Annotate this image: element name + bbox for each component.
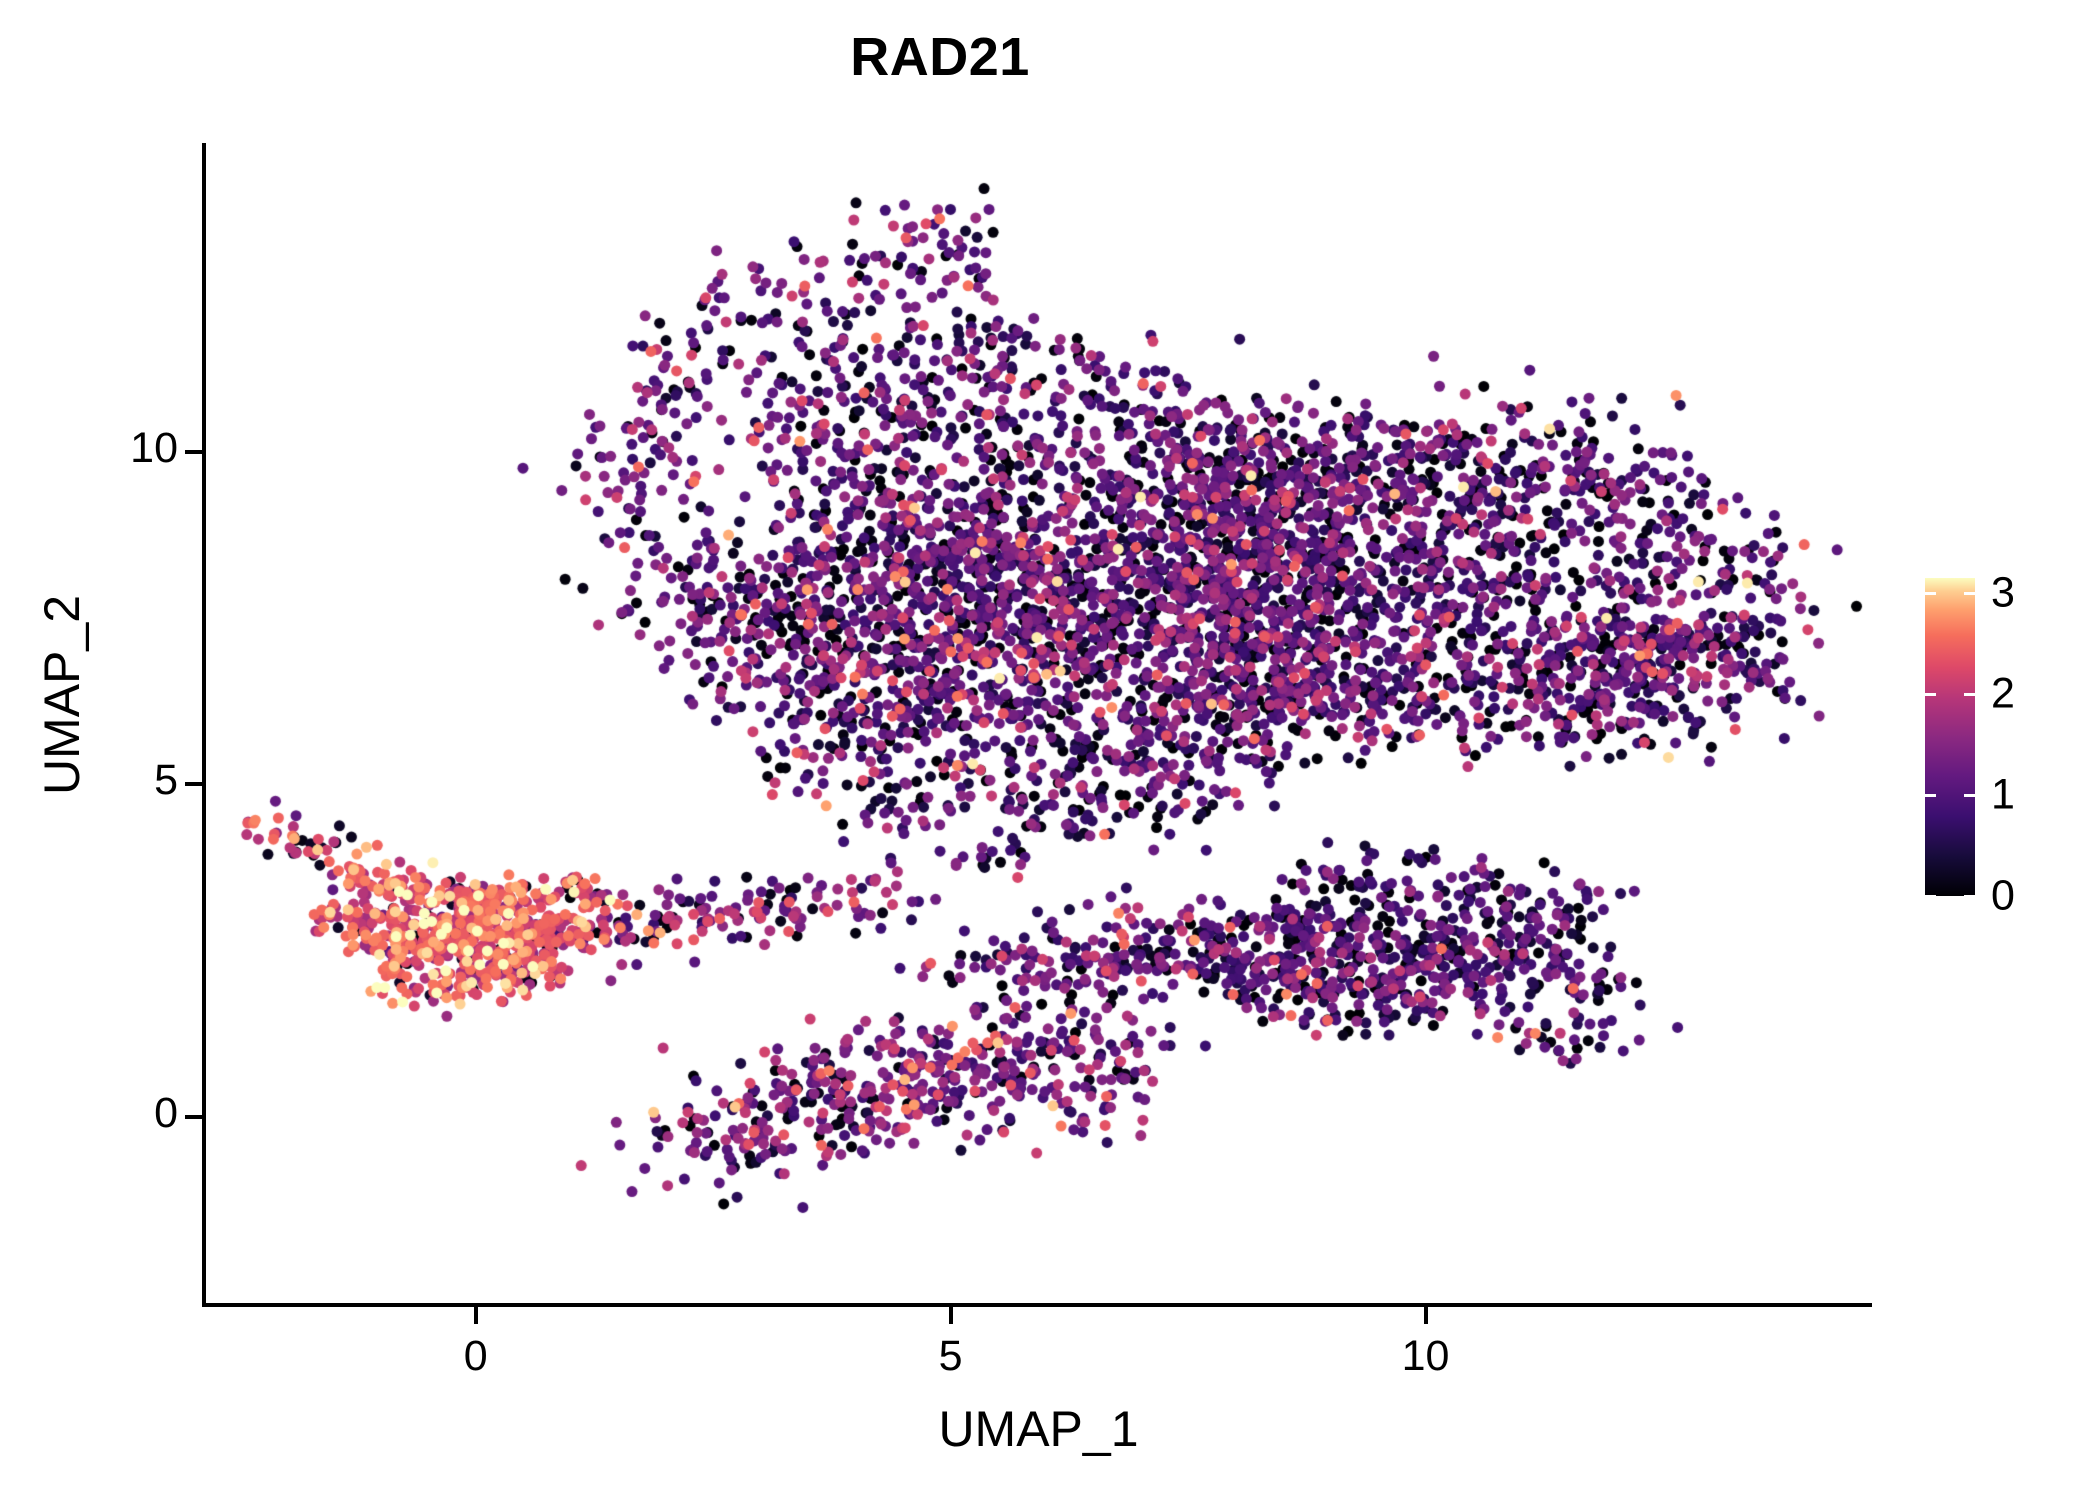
colorbar-tick-mark	[1925, 592, 1936, 595]
x-tick-label: 0	[376, 1332, 576, 1381]
y-tick-mark	[185, 1115, 202, 1119]
y-axis-title: UMAP_2	[33, 345, 91, 1045]
x-tick-label: 5	[851, 1332, 1051, 1381]
colorbar-tick-mark	[1964, 895, 1975, 898]
x-tick-mark	[949, 1307, 953, 1324]
colorbar-tick-mark	[1925, 895, 1936, 898]
y-tick-mark	[185, 450, 202, 454]
x-tick-label: 10	[1326, 1332, 1526, 1381]
x-tick-mark	[1424, 1307, 1428, 1324]
y-tick-mark	[185, 782, 202, 786]
colorbar-tick-mark	[1964, 592, 1975, 595]
colorbar-tick-label: 2	[1991, 670, 2015, 719]
umap-feature-plot: RAD21 0510 0510 UMAP_1 UMAP_2 0123	[0, 0, 2100, 1500]
color-legend: 0123	[1925, 578, 2095, 898]
x-axis-title: UMAP_1	[205, 1400, 1872, 1458]
colorbar-tick-label: 1	[1991, 771, 2015, 820]
colorbar-tick-mark	[1964, 693, 1975, 696]
colorbar-gradient	[1925, 578, 1975, 896]
colorbar-tick-mark	[1925, 693, 1936, 696]
colorbar-tick-label: 3	[1991, 569, 2015, 618]
colorbar-tick-label: 0	[1991, 872, 2015, 921]
x-axis-ticks: 0510	[0, 0, 2100, 1500]
colorbar-tick-mark	[1925, 794, 1936, 797]
colorbar-tick-mark	[1964, 794, 1975, 797]
x-tick-mark	[474, 1307, 478, 1324]
